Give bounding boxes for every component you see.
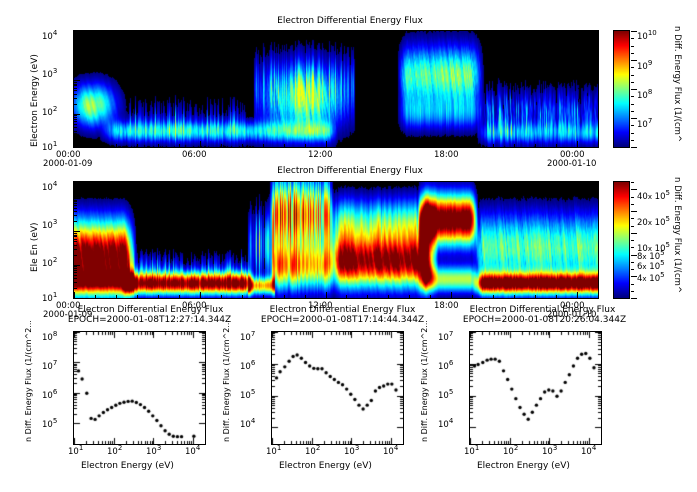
mid-ytick-3: 103 xyxy=(42,221,57,231)
top-cbtick-10: 1010 xyxy=(637,32,657,42)
axis-tick xyxy=(74,282,77,283)
top-ytick-4: 104 xyxy=(42,32,57,42)
sp2-xtick-2: 102 xyxy=(305,447,320,457)
axis-tick xyxy=(74,270,77,271)
sp1-ytick-8: 108 xyxy=(42,333,57,343)
colorbar-tick xyxy=(631,197,634,198)
sp1-ytick-5: 105 xyxy=(42,420,57,430)
colorbar-tick xyxy=(631,247,634,248)
axis-tick xyxy=(74,82,77,83)
axis-tick xyxy=(116,295,117,298)
middle-panel-title: Electron Differential Energy Flux xyxy=(215,166,485,176)
axis-tick xyxy=(493,295,494,298)
colorbar-tick xyxy=(631,298,637,299)
axis-tick xyxy=(74,288,77,289)
axis-tick xyxy=(493,144,494,147)
spectrum-3-xlabel: Electron Energy (eV) xyxy=(477,461,570,471)
axis-tick xyxy=(326,141,327,147)
mid-cbtick-4: 4x 105 xyxy=(637,274,665,284)
axis-tick xyxy=(74,265,80,266)
axis-tick xyxy=(284,295,285,298)
axis-tick xyxy=(409,295,410,298)
axis-tick xyxy=(74,198,80,199)
axis-tick xyxy=(221,144,222,147)
axis-tick xyxy=(346,295,347,298)
axis-tick xyxy=(305,144,306,147)
mid-ytick-2: 102 xyxy=(42,259,57,269)
sp3-ytick-4: 104 xyxy=(438,420,453,430)
axis-tick xyxy=(200,292,201,298)
axis-tick xyxy=(451,141,452,147)
colorbar-tick xyxy=(631,276,637,277)
axis-tick xyxy=(74,131,77,132)
axis-tick xyxy=(74,49,77,50)
spectrum-3-ylabel: n Diff. Energy Flux (1/(cm^2... xyxy=(420,320,429,442)
axis-tick xyxy=(158,295,159,298)
axis-tick xyxy=(74,80,80,81)
axis-tick xyxy=(263,295,264,298)
spectrum-2-plot xyxy=(272,332,403,444)
axis-tick xyxy=(74,147,80,148)
colorbar-tick xyxy=(631,53,634,54)
top-cbtick-7: 107 xyxy=(637,120,652,130)
axis-tick xyxy=(74,215,77,216)
colorbar-tick xyxy=(631,255,637,256)
spectrum-2-subtitle: EPOCH=2000-01-08T17:14:44.344Z xyxy=(245,315,440,325)
sp3-ytick-6: 106 xyxy=(438,362,453,372)
colorbar-tick xyxy=(631,96,634,97)
colorbar-tick xyxy=(631,226,634,227)
sp3-xtick-4: 104 xyxy=(581,447,596,457)
axis-tick xyxy=(74,47,80,48)
axis-tick xyxy=(74,137,77,138)
axis-tick xyxy=(598,295,599,298)
axis-tick xyxy=(451,292,452,298)
sp2-ytick-4: 104 xyxy=(240,420,255,430)
axis-tick xyxy=(74,117,77,118)
mid-ytick-1: 101 xyxy=(42,294,57,304)
colorbar-tick xyxy=(631,147,637,148)
axis-tick xyxy=(346,144,347,147)
top-ytick-1: 101 xyxy=(42,143,57,153)
axis-tick xyxy=(74,115,77,116)
axis-tick xyxy=(367,144,368,147)
axis-tick xyxy=(409,144,410,147)
axis-tick xyxy=(74,70,77,71)
axis-tick xyxy=(242,144,243,147)
middle-colorbar xyxy=(613,181,630,299)
axis-tick xyxy=(74,211,77,212)
axis-tick xyxy=(577,292,578,298)
axis-tick xyxy=(74,60,77,61)
axis-tick xyxy=(74,52,77,53)
axis-tick xyxy=(430,144,431,147)
colorbar-tick xyxy=(631,60,637,61)
axis-tick xyxy=(74,205,77,206)
sp1-ytick-6: 106 xyxy=(42,391,57,401)
axis-tick xyxy=(74,235,77,236)
colorbar-tick xyxy=(631,125,634,126)
colorbar-tick xyxy=(631,189,637,190)
axis-tick xyxy=(95,144,96,147)
axis-tick xyxy=(598,144,599,147)
top-xdate-end: 2000-01-10 xyxy=(547,159,596,169)
axis-tick xyxy=(74,88,77,89)
sp3-ytick-7: 107 xyxy=(438,333,453,343)
axis-tick xyxy=(74,54,77,55)
axis-tick xyxy=(556,144,557,147)
sp1-xtick-1: 101 xyxy=(68,447,83,457)
top-xtick-1: 06:00 xyxy=(182,150,207,160)
colorbar-tick xyxy=(631,218,634,219)
sp2-ytick-6: 106 xyxy=(240,362,255,372)
axis-tick xyxy=(263,144,264,147)
top-cbtick-9: 109 xyxy=(637,62,652,72)
axis-tick xyxy=(242,295,243,298)
mid-ytick-4: 104 xyxy=(42,183,57,193)
axis-tick xyxy=(305,295,306,298)
colorbar-tick xyxy=(631,31,637,32)
axis-tick xyxy=(74,249,77,250)
middle-colorbar-label: n Diff. Energy Flux (1/(cm^ xyxy=(672,177,682,293)
top-xdate-start: 2000-01-09 xyxy=(43,159,92,169)
axis-tick xyxy=(514,295,515,298)
top-panel-ylabel: Electron Energy (eV) xyxy=(30,54,40,147)
sp1-ytick-7: 107 xyxy=(42,362,57,372)
colorbar-tick xyxy=(631,284,634,285)
axis-tick xyxy=(137,295,138,298)
axis-tick xyxy=(200,141,201,147)
axis-tick xyxy=(74,200,77,201)
colorbar-tick xyxy=(631,233,637,234)
axis-tick xyxy=(74,94,77,95)
top-xtick-2: 12:00 xyxy=(308,150,333,160)
axis-tick xyxy=(74,84,77,85)
axis-tick xyxy=(179,295,180,298)
axis-tick xyxy=(74,245,77,246)
axis-tick xyxy=(74,268,77,269)
spectrum-1-subtitle: EPOCH=2000-01-08T12:27:14.344Z xyxy=(52,315,247,325)
axis-tick xyxy=(577,141,578,147)
colorbar-tick xyxy=(631,211,637,212)
colorbar-tick xyxy=(631,269,634,270)
axis-tick xyxy=(472,144,473,147)
spectrum-3-subtitle: EPOCH=2000-01-08T20:26:04.344Z xyxy=(447,315,642,325)
axis-tick xyxy=(74,241,77,242)
axis-tick xyxy=(74,255,77,256)
colorbar-tick xyxy=(631,182,634,183)
sp1-xtick-2: 102 xyxy=(107,447,122,457)
top-ytick-3: 103 xyxy=(42,70,57,80)
axis-tick xyxy=(74,37,77,38)
top-colorbar xyxy=(613,30,630,148)
axis-tick xyxy=(74,236,77,237)
axis-tick xyxy=(74,278,77,279)
axis-tick xyxy=(74,239,77,240)
axis-tick xyxy=(74,127,77,128)
axis-tick xyxy=(74,98,77,99)
colorbar-tick xyxy=(631,89,637,90)
top-cbtick-8: 108 xyxy=(637,91,652,101)
spectrum-1-xlabel: Electron Energy (eV) xyxy=(81,461,174,471)
spectrum-2-ylabel: n Diff. Energy Flux (1/(cm^2... xyxy=(222,320,231,442)
axis-tick xyxy=(74,272,77,273)
mid-cbtick-20: 20x 105 xyxy=(637,218,670,228)
colorbar-tick xyxy=(631,75,634,76)
axis-tick xyxy=(74,114,80,115)
middle-panel-spectrogram xyxy=(74,182,598,298)
axis-tick xyxy=(74,85,77,86)
spectrum-2-xlabel: Electron Energy (eV) xyxy=(279,461,372,471)
axis-tick xyxy=(472,295,473,298)
axis-tick xyxy=(326,292,327,298)
sp3-ytick-5: 105 xyxy=(438,391,453,401)
axis-tick xyxy=(556,295,557,298)
axis-tick xyxy=(367,295,368,298)
colorbar-tick xyxy=(631,240,634,241)
colorbar-tick xyxy=(631,133,634,134)
spectrum-1-ylabel: n Diff. Energy Flux (1/(cm^2... xyxy=(24,320,33,442)
axis-tick xyxy=(116,144,117,147)
axis-tick xyxy=(74,50,77,51)
spectrum-1-plot xyxy=(74,332,205,444)
top-panel-spectrogram xyxy=(74,31,598,147)
colorbar-tick xyxy=(631,38,634,39)
sp2-xtick-3: 103 xyxy=(344,447,359,457)
colorbar-tick xyxy=(631,82,634,83)
axis-tick xyxy=(74,266,77,267)
axis-tick xyxy=(74,275,77,276)
spectrum-3-title: Electron Differential Energy Flux xyxy=(450,305,635,315)
colorbar-tick xyxy=(631,140,634,141)
axis-tick xyxy=(179,144,180,147)
axis-tick xyxy=(74,298,80,299)
axis-tick xyxy=(74,64,77,65)
axis-tick xyxy=(74,233,77,234)
axis-tick xyxy=(221,295,222,298)
top-colorbar-label: n Diff. Energy Flux (1/(cm^ xyxy=(672,26,682,142)
colorbar-tick xyxy=(631,291,634,292)
axis-tick xyxy=(74,203,77,204)
sp2-ytick-7: 107 xyxy=(240,333,255,343)
colorbar-tick xyxy=(631,104,634,105)
axis-tick xyxy=(74,31,77,32)
axis-tick xyxy=(158,144,159,147)
axis-tick xyxy=(74,119,77,120)
axis-tick xyxy=(284,144,285,147)
colorbar-tick xyxy=(631,67,634,68)
axis-tick xyxy=(514,144,515,147)
axis-tick xyxy=(137,144,138,147)
spectrum-1-title: Electron Differential Energy Flux xyxy=(58,305,243,315)
top-ytick-2: 102 xyxy=(42,108,57,118)
sp1-xtick-4: 104 xyxy=(185,447,200,457)
axis-tick xyxy=(74,231,80,232)
axis-tick xyxy=(74,188,77,189)
sp1-xtick-3: 103 xyxy=(146,447,161,457)
middle-panel-ylabel: Ele En (eV) xyxy=(30,222,40,272)
mid-cbtick-40: 40x 105 xyxy=(637,192,670,202)
axis-tick xyxy=(388,144,389,147)
sp2-xtick-1: 101 xyxy=(266,447,281,457)
axis-tick xyxy=(430,295,431,298)
axis-tick xyxy=(74,90,77,91)
axis-tick xyxy=(74,124,77,125)
sp3-xtick-1: 101 xyxy=(464,447,479,457)
axis-tick xyxy=(74,201,77,202)
top-panel-title: Electron Differential Energy Flux xyxy=(215,16,485,26)
axis-tick xyxy=(535,295,536,298)
axis-tick xyxy=(74,221,77,222)
axis-tick xyxy=(95,295,96,298)
axis-tick xyxy=(535,144,536,147)
axis-tick xyxy=(74,104,77,105)
axis-tick xyxy=(74,121,77,122)
figure-canvas: Electron Differential Energy Flux Electr… xyxy=(0,0,697,492)
axis-tick xyxy=(74,182,77,183)
spectrum-3-plot xyxy=(470,332,601,444)
sp3-xtick-2: 102 xyxy=(503,447,518,457)
colorbar-tick xyxy=(631,262,634,263)
colorbar-tick xyxy=(631,118,637,119)
colorbar-tick xyxy=(631,111,634,112)
sp2-xtick-4: 104 xyxy=(383,447,398,457)
sp2-ytick-5: 105 xyxy=(240,391,255,401)
top-xtick-3: 18:00 xyxy=(434,150,459,160)
colorbar-tick xyxy=(631,46,634,47)
axis-tick xyxy=(388,295,389,298)
colorbar-tick xyxy=(631,204,634,205)
axis-tick xyxy=(74,208,77,209)
sp3-xtick-3: 103 xyxy=(542,447,557,457)
axis-tick xyxy=(74,57,77,58)
spectrum-2-title: Electron Differential Energy Flux xyxy=(250,305,435,315)
